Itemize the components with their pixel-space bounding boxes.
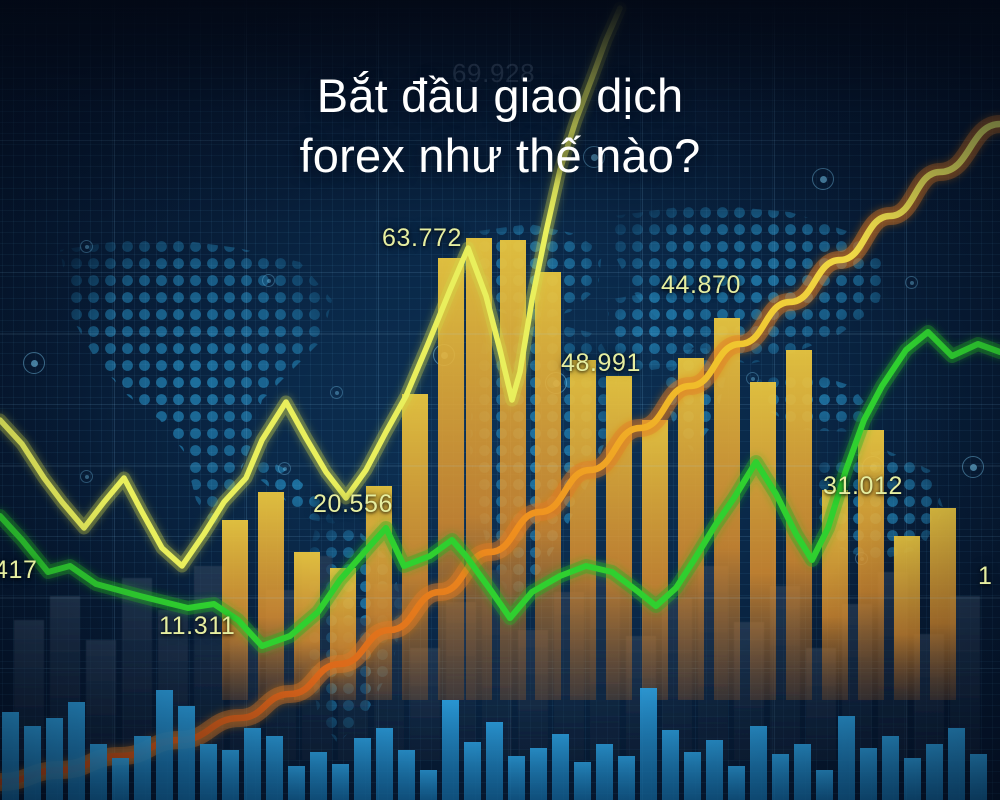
- chart-bar: [398, 750, 415, 800]
- chart-bar: [354, 738, 371, 800]
- chart-bar: [442, 700, 459, 800]
- chart-bar: [570, 360, 596, 700]
- price-label: 1: [978, 562, 993, 591]
- price-label: 31.012: [823, 472, 903, 501]
- chart-bar: [926, 744, 943, 800]
- title-line-2: forex như thế nào?: [0, 126, 1000, 186]
- chart-bar: [750, 726, 767, 800]
- page-title: Bắt đầu giao dịch forex như thế nào?: [0, 66, 1000, 185]
- price-label: 63.772: [382, 224, 462, 253]
- price-label: 48.991: [561, 349, 641, 378]
- chart-bar: [530, 748, 547, 800]
- chart-bar: [930, 508, 956, 700]
- chart-bar: [970, 754, 987, 800]
- chart-bar: [222, 750, 239, 800]
- chart-bar: [178, 706, 195, 800]
- chart-bar: [750, 382, 776, 700]
- chart-bar: [816, 770, 833, 800]
- chart-bar: [258, 492, 284, 700]
- chart-bar: [134, 736, 151, 800]
- chart-bar: [464, 742, 481, 800]
- title-line-1: Bắt đầu giao dịch: [0, 66, 1000, 126]
- chart-bar: [860, 748, 877, 800]
- chart-bar: [90, 744, 107, 800]
- chart-bar: [838, 716, 855, 800]
- price-label: 417: [0, 556, 38, 585]
- chart-bar: [642, 420, 668, 700]
- chart-bar: [858, 430, 884, 700]
- chart-bar: [772, 754, 789, 800]
- chart-bar: [68, 702, 85, 800]
- chart-bar: [640, 688, 657, 800]
- chart-bar: [310, 752, 327, 800]
- price-label: 11.311: [159, 612, 235, 641]
- chart-bar: [882, 736, 899, 800]
- chart-bar: [288, 766, 305, 800]
- chart-bar: [728, 766, 745, 800]
- chart-bar: [535, 272, 561, 700]
- banner-image: 69.92863.77244.87048.99120.55631.0124171…: [0, 0, 1000, 800]
- chart-bar: [46, 718, 63, 800]
- chart-bar: [24, 726, 41, 800]
- chart-bar: [552, 734, 569, 800]
- price-label: 44.870: [661, 271, 741, 300]
- chart-bar: [112, 758, 129, 800]
- price-label: 20.556: [313, 490, 393, 519]
- chart-bar: [904, 758, 921, 800]
- chart-bar: [948, 728, 965, 800]
- chart-bar: [402, 394, 428, 700]
- chart-bar: [894, 536, 920, 700]
- chart-bar: [678, 358, 704, 700]
- chart-bar: [2, 712, 19, 800]
- chart-bar: [706, 740, 723, 800]
- chart-bar: [486, 722, 503, 800]
- chart-bar: [86, 640, 116, 760]
- chart-bar: [266, 736, 283, 800]
- chart-bar: [596, 744, 613, 800]
- chart-bar: [122, 578, 152, 760]
- chart-bar: [500, 240, 526, 700]
- chart-bar: [156, 690, 173, 800]
- chart-bar: [376, 728, 393, 800]
- chart-bar: [684, 752, 701, 800]
- chart-bar: [618, 756, 635, 800]
- chart-bar: [794, 744, 811, 800]
- chart-bar: [574, 762, 591, 800]
- chart-bar: [508, 756, 525, 800]
- chart-bar: [662, 730, 679, 800]
- chart-bar: [244, 728, 261, 800]
- chart-bar: [200, 744, 217, 800]
- chart-bar: [332, 764, 349, 800]
- chart-bar: [420, 770, 437, 800]
